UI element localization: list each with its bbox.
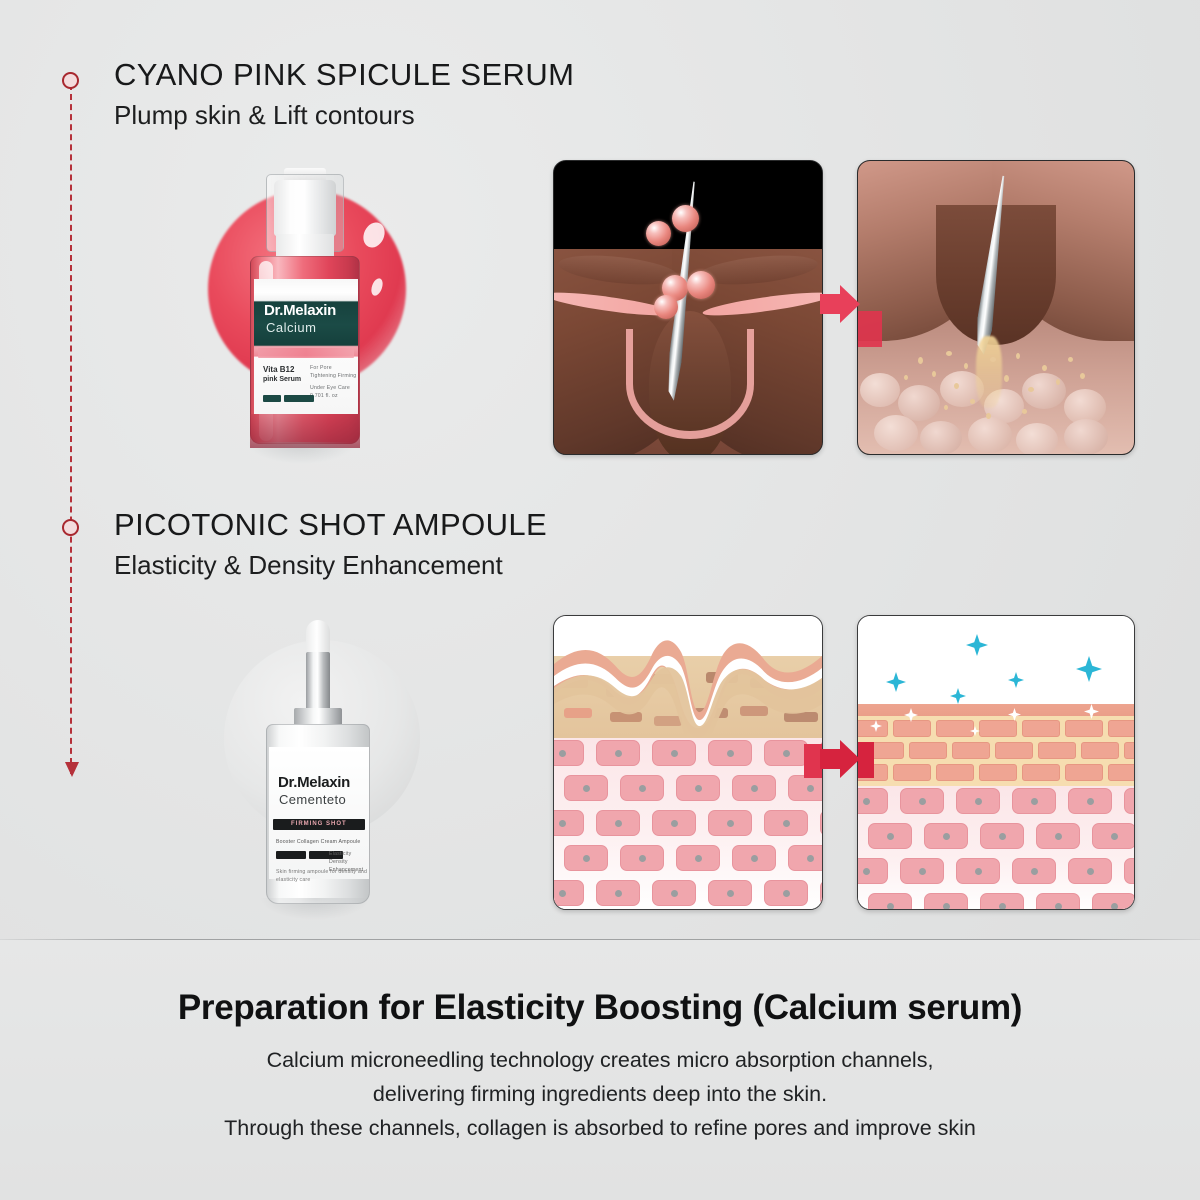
label-detail-bold: Vita B12 — [263, 365, 294, 375]
section-2-title: PICOTONIC SHOT AMPOULE — [114, 508, 547, 542]
timeline-arrow-down-icon — [65, 762, 79, 777]
skin-cell — [1124, 788, 1135, 814]
section-2-subtitle: Elasticity & Density Enhancement — [114, 551, 547, 580]
skin-cell — [732, 845, 776, 871]
skin-cell — [564, 775, 608, 801]
label-detail-small-2: Under Eye Care0.701 fl. oz — [310, 385, 350, 401]
calcium-bead-icon — [654, 295, 678, 319]
dropper-bulb — [306, 620, 330, 656]
skin-cell — [708, 810, 752, 836]
skin-cell — [924, 893, 968, 910]
skin-cell — [652, 880, 696, 906]
skin-cell — [1124, 858, 1135, 884]
skin-cell — [596, 810, 640, 836]
skin-cell — [868, 893, 912, 910]
step-marker-2-icon — [62, 519, 79, 536]
collagen-brick — [1022, 764, 1060, 781]
skin-cell — [1036, 823, 1080, 849]
collagen-brick — [893, 720, 931, 737]
skin-cell — [652, 810, 696, 836]
sparkle-icon — [1008, 708, 1021, 721]
dropper-stem — [306, 652, 330, 714]
skin-cell — [564, 845, 608, 871]
skin-cell — [676, 775, 720, 801]
skin-cell — [1068, 788, 1112, 814]
skin-cell — [1092, 823, 1135, 849]
sparkle-icon — [870, 720, 882, 732]
label-detail-small: For PoreTightening Firming — [310, 365, 356, 381]
skin-cell — [1092, 893, 1135, 910]
collagen-brick — [1108, 764, 1135, 781]
skin-cell — [868, 823, 912, 849]
collagen-brick — [995, 742, 1033, 759]
skin-cell — [980, 823, 1024, 849]
panel-pore-spicule-before — [553, 160, 823, 455]
skin-cell — [857, 788, 888, 814]
timeline — [60, 62, 82, 787]
skin-cell — [708, 740, 752, 766]
pore-lining-bottom — [626, 329, 754, 439]
skin-cell — [764, 880, 808, 906]
label-detail-small-3: Skin firming ampoule for density and ela… — [276, 869, 369, 885]
sparkle-icon — [1076, 656, 1102, 682]
label-color-band — [258, 348, 354, 358]
sparkle-icon — [886, 672, 906, 692]
timeline-dashed-line — [70, 84, 72, 774]
skin-cell — [620, 775, 664, 801]
section-2-heading-group: PICOTONIC SHOT AMPOULE Elasticity & Dens… — [114, 508, 547, 580]
collagen-brick — [936, 764, 974, 781]
skin-cell — [900, 858, 944, 884]
collagen-brick — [893, 764, 931, 781]
label-chip-1 — [276, 851, 306, 859]
skin-cell — [596, 880, 640, 906]
bottom-paragraph: Calcium microneedling technology creates… — [0, 1044, 1200, 1146]
bottle-label: Dr.Melaxin Cementeto FIRMING SHOT Booste… — [269, 747, 369, 879]
skin-cell — [764, 740, 808, 766]
panel-skin-firmed-after — [857, 615, 1135, 910]
skin-cell — [956, 788, 1000, 814]
collagen-brick — [1022, 720, 1060, 737]
label-detail-small: Booster Collagen Cream Ampoule — [276, 839, 360, 847]
skin-cell — [788, 775, 823, 801]
skin-cell — [553, 810, 584, 836]
collagen-brick — [1065, 764, 1103, 781]
arrow-bleed-marker — [858, 311, 882, 347]
skin-cell — [1012, 858, 1056, 884]
label-line: Cementeto — [279, 793, 346, 806]
section-1-heading-group: CYANO PINK SPICULE SERUM Plump skin & Li… — [114, 58, 574, 130]
skin-cell — [596, 740, 640, 766]
sparkle-icon — [950, 688, 966, 704]
collagen-brick — [936, 720, 974, 737]
skin-cell — [652, 740, 696, 766]
skin-cell — [956, 858, 1000, 884]
bottom-line-1: Calcium microneedling technology creates… — [0, 1044, 1200, 1078]
skin-cell — [924, 823, 968, 849]
infographic-page: CYANO PINK SPICULE SERUM Plump skin & Li… — [0, 0, 1200, 1200]
serum-bottle-pump: Dr.Melaxin Calcium Vita B12 pink Serum F… — [244, 168, 366, 448]
calcium-bead-icon — [672, 205, 699, 232]
sparkle-icon — [1008, 672, 1024, 688]
collagen-brick — [1108, 720, 1135, 737]
calcium-bead-icon — [646, 221, 671, 246]
label-black-band: FIRMING SHOT — [273, 819, 365, 830]
skin-cell — [553, 880, 584, 906]
label-brand: Dr.Melaxin — [264, 303, 336, 318]
label-line: Calcium — [266, 321, 316, 334]
collagen-brick — [909, 742, 947, 759]
product-image-picotonic-ampoule: Dr.Melaxin Cementeto FIRMING SHOT Booste… — [210, 618, 440, 918]
sparkle-icon — [904, 708, 918, 722]
skin-cell — [820, 810, 823, 836]
epidermis-wave — [554, 626, 822, 756]
bottom-line-3: Through these channels, collagen is abso… — [0, 1112, 1200, 1146]
bottom-line-2: delivering firming ingredients deep into… — [0, 1078, 1200, 1112]
skin-cell — [980, 893, 1024, 910]
ampoule-bottle-dropper: Dr.Melaxin Cementeto FIRMING SHOT Booste… — [254, 620, 378, 908]
label-chip — [284, 395, 314, 402]
collagen-brick — [1065, 720, 1103, 737]
arrow-bleed-marker — [858, 742, 874, 778]
transition-arrow-2-icon — [820, 740, 860, 778]
bottom-heading: Preparation for Elasticity Boosting (Cal… — [0, 988, 1200, 1028]
bottle-label: Dr.Melaxin Calcium Vita B12 pink Serum F… — [254, 279, 358, 414]
sparkle-icon — [966, 634, 988, 656]
skin-cell — [900, 788, 944, 814]
skin-cell — [553, 740, 584, 766]
sparkle-icon — [1084, 704, 1099, 719]
label-detail-bold-2: pink Serum — [263, 376, 301, 385]
collagen-brick — [1038, 742, 1076, 759]
panel-skin-uneven-before — [553, 615, 823, 910]
label-brand: Dr.Melaxin — [278, 775, 350, 790]
collagen-brick — [979, 720, 1017, 737]
section-1-subtitle: Plump skin & Lift contours — [114, 101, 574, 130]
sparkle-icon — [970, 726, 980, 736]
section-1-title: CYANO PINK SPICULE SERUM — [114, 58, 574, 92]
bottom-description-block: Preparation for Elasticity Boosting (Cal… — [0, 940, 1200, 1200]
skin-cell — [1012, 788, 1056, 814]
skin-cell — [1068, 858, 1112, 884]
bottle-body: Dr.Melaxin Cementeto FIRMING SHOT Booste… — [266, 724, 370, 904]
skin-cell — [857, 858, 888, 884]
skin-cell — [788, 845, 823, 871]
skin-cell — [820, 880, 823, 906]
skin-cell — [764, 810, 808, 836]
skin-cell — [620, 845, 664, 871]
label-chip — [263, 395, 281, 402]
skin-cell — [708, 880, 752, 906]
panel-pore-spicule-after — [857, 160, 1135, 455]
collagen-brick — [1124, 742, 1135, 759]
skin-cell — [676, 845, 720, 871]
bottle-reflection — [246, 442, 356, 464]
step-marker-1-icon — [62, 72, 79, 89]
skin-cell — [1036, 893, 1080, 910]
bottle-reflection — [260, 898, 370, 920]
collagen-brick — [1081, 742, 1119, 759]
collagen-brick — [979, 764, 1017, 781]
transition-arrow-1-icon — [820, 285, 860, 323]
product-image-cyano-pink-serum: Dr.Melaxin Calcium Vita B12 pink Serum F… — [196, 162, 436, 462]
label-band-text: FIRMING SHOT — [291, 821, 347, 827]
calcium-bead-icon — [687, 271, 715, 299]
absorption-channel — [976, 336, 1002, 408]
skin-cell — [732, 775, 776, 801]
collagen-brick — [952, 742, 990, 759]
